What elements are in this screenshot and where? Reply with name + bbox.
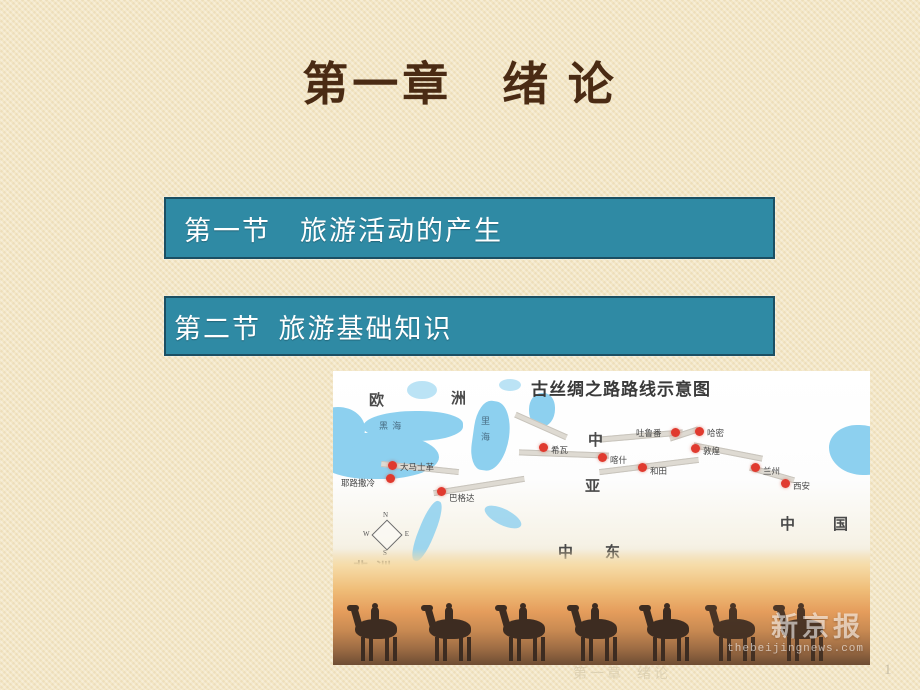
- silk-road-map-image[interactable]: 古丝绸之路路线示意图 欧 洲 中 亚 中 东 非洲 中 国 黑 海 里 海 耶路…: [333, 371, 870, 665]
- camel-leg: [541, 637, 545, 661]
- map-city-label-xian: 西安: [793, 480, 810, 492]
- map-city-label-dunhuang: 敦煌: [703, 445, 720, 457]
- camel-head: [495, 605, 507, 611]
- camel-leg: [653, 637, 657, 661]
- map-city-dot-khiva: [539, 443, 548, 452]
- camel-head: [773, 605, 785, 611]
- map-city-dot-hami: [695, 427, 704, 436]
- section-bar-one[interactable]: 第一节 旅游活动的产生: [164, 197, 775, 259]
- map-city-dot-baghdad: [437, 487, 446, 496]
- map-photo-sunset-band: 新京报 thebeijingnews.com: [333, 549, 870, 665]
- page-title: 第一章 绪 论: [0, 57, 920, 112]
- sea-shape-persian-gulf: [482, 501, 525, 533]
- map-region-label-europe-2: 洲: [451, 387, 469, 408]
- map-region-label-central-asia-2: 亚: [585, 475, 603, 496]
- watermark-publisher-name: 新京报: [727, 614, 864, 641]
- camel-leg: [509, 637, 513, 661]
- camel-silhouette: [499, 599, 551, 661]
- map-city-label-lanzhou: 兰州: [763, 465, 780, 477]
- camel-leg: [605, 637, 609, 661]
- camel-leg: [385, 637, 389, 661]
- camel-head: [639, 605, 651, 611]
- rider-head: [592, 603, 598, 609]
- rider-head: [798, 603, 804, 609]
- map-region-label-central-asia-1: 中: [588, 429, 606, 450]
- camel-leg: [719, 637, 723, 661]
- section-bar-two[interactable]: 第二节 旅游基础知识: [164, 296, 775, 356]
- camel-leg: [459, 637, 463, 661]
- sea-shape-north-europe: [407, 381, 437, 399]
- map-city-dot-damascus: [388, 461, 397, 470]
- camel-silhouette: [571, 599, 623, 661]
- camel-head: [705, 605, 717, 611]
- camel-leg: [361, 637, 365, 661]
- map-city-label-jerusalem: 耶路撒冷: [341, 477, 375, 489]
- camel-leg: [443, 637, 447, 661]
- compass-east-label: E: [405, 530, 409, 538]
- map-city-label-hami: 哈密: [707, 427, 724, 439]
- map-city-dot-dunhuang: [691, 444, 700, 453]
- map-upper-area: 古丝绸之路路线示意图 欧 洲 中 亚 中 东 非洲 中 国 黑 海 里 海 耶路…: [333, 371, 870, 567]
- map-city-label-hotan: 和田: [650, 465, 667, 477]
- rider-body: [663, 607, 671, 621]
- camel-silhouette: [643, 599, 695, 661]
- camel-silhouette: [425, 599, 477, 661]
- map-title: 古丝绸之路路线示意图: [531, 375, 711, 400]
- compass-north-label: N: [383, 511, 388, 519]
- page-number: 1: [884, 662, 892, 679]
- camel-leg: [369, 637, 373, 661]
- compass-west-label: W: [363, 530, 370, 538]
- rider-head: [664, 603, 670, 609]
- camel-head: [347, 605, 359, 611]
- section-bar-one-label: 第一节 旅游活动的产生: [166, 209, 503, 248]
- slide-canvas: 第一章 绪 论 第一节 旅游活动的产生 第二节 旅游基础知识: [0, 0, 920, 690]
- camel-leg: [467, 637, 471, 661]
- map-city-dot-xian: [781, 479, 790, 488]
- camel-head: [421, 605, 433, 611]
- rider-head: [446, 603, 452, 609]
- footer-chapter-note: 第一章 绪论: [573, 663, 671, 683]
- camel-leg: [393, 637, 397, 661]
- rider-body: [445, 607, 453, 621]
- map-city-label-baghdad: 巴格达: [449, 492, 475, 504]
- map-city-label-turpan: 吐鲁番: [636, 427, 662, 439]
- rider-body: [591, 607, 599, 621]
- rider-head: [730, 603, 736, 609]
- rider-body: [519, 607, 527, 621]
- map-region-label-china-2: 国: [833, 513, 851, 534]
- map-city-dot-kashgar: [598, 453, 607, 462]
- map-city-dot-hotan: [638, 463, 647, 472]
- compass-diamond-icon: [371, 519, 402, 550]
- camel-leg: [435, 637, 439, 661]
- map-city-label-damascus: 大马士革: [400, 461, 434, 473]
- sea-shape-black-sea: [363, 411, 463, 441]
- camel-leg: [581, 637, 585, 661]
- map-sea-label-black-sea: 黑 海: [379, 419, 402, 432]
- route-segment-levant: [433, 476, 525, 496]
- map-city-dot-jerusalem: [386, 474, 395, 483]
- map-region-label-china-1: 中: [780, 513, 798, 534]
- map-city-label-kashgar: 喀什: [610, 454, 627, 466]
- camel-leg: [533, 637, 537, 661]
- camel-leg: [677, 637, 681, 661]
- camel-leg: [685, 637, 689, 661]
- camel-head: [567, 605, 579, 611]
- sea-shape-small-island: [499, 379, 521, 391]
- camel-leg: [589, 637, 593, 661]
- camel-leg: [661, 637, 665, 661]
- sea-shape-east-coast: [829, 425, 870, 475]
- camel-leg: [517, 637, 521, 661]
- map-region-label-europe: 欧: [369, 389, 387, 410]
- map-sea-label-caspian-sea: 里 海: [481, 413, 491, 445]
- rider-body: [371, 607, 379, 621]
- map-city-dot-lanzhou: [751, 463, 760, 472]
- camel-silhouette: [351, 599, 403, 661]
- rider-head: [372, 603, 378, 609]
- map-city-dot-turpan: [671, 428, 680, 437]
- watermark: 新京报 thebeijingnews.com: [727, 614, 864, 655]
- watermark-url: thebeijingnews.com: [727, 643, 864, 655]
- camel-leg: [613, 637, 617, 661]
- rider-head: [520, 603, 526, 609]
- map-city-label-khiva: 希瓦: [551, 444, 568, 456]
- section-bar-two-label: 第二节 旅游基础知识: [166, 307, 453, 346]
